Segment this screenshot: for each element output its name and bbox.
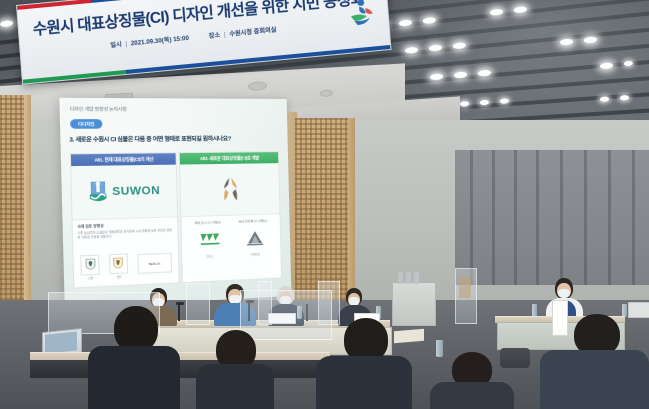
green-city-logo-icon	[198, 231, 221, 248]
standing-name-card	[552, 300, 568, 336]
projection-screen: 디자인 개발 방향성 논의사항 디디자인 3. 새로운 수원시 CI 심볼은 다…	[59, 98, 291, 309]
alt2-example-captions: 해외 도시 CI 사례(1) 국내 지자체 CI 사례(2)	[186, 217, 276, 225]
alternative-2-panel: Alt2. 새로운 대표상징물(CI)로 개발 해외 도시 CI 사례(1) 국…	[179, 151, 282, 283]
attendee-right-suit	[540, 350, 649, 409]
attendee-back-left	[196, 330, 274, 409]
attendee-left-suit	[88, 346, 180, 409]
alternative-2-notes: 해외 도시 CI 사례(1) 국내 지자체 CI 사례(2) 경기도	[181, 213, 281, 280]
water-bottle-staff	[532, 304, 537, 317]
banner-separator-2: |	[224, 31, 226, 38]
banner-date-label: 일시	[110, 41, 122, 49]
laptop-screen	[45, 331, 77, 353]
attendee-front-right-back	[430, 352, 514, 409]
attendee-front-left	[88, 306, 180, 409]
wood-lattice-panel-left	[0, 95, 26, 325]
suwon-city-symbol-icon	[343, 0, 379, 31]
berlin-wordmark-icon: BERLIN	[137, 253, 172, 274]
wood-frame-left	[24, 95, 31, 325]
acrylic-divider-panel-1	[186, 283, 210, 325]
alternative-1-panel: Alt1. 현재 대표상징물(CI)의 개선 SUWON 사례 검토 방향성 기…	[70, 152, 180, 288]
cabinet-bottle-2	[406, 272, 411, 284]
cabinet-bottle-1	[398, 272, 403, 284]
slide-section-badge: 디디자인	[70, 119, 102, 129]
berlin-wordmark-text: BERLIN	[149, 261, 161, 266]
alternative-1-logo-area: SUWON	[71, 165, 177, 220]
alt2-example-caption: 경기도	[199, 254, 222, 259]
microphone-head-1	[176, 302, 184, 305]
banner-place-label: 장소	[209, 32, 221, 40]
audience-desk-front	[30, 360, 330, 378]
alt1-example-caption: 개선	[110, 274, 129, 279]
slide-header: 디자인 개발 방향성 논의사항	[70, 106, 127, 112]
alt1-note-body: 기존 상징물의 조형성과 색채계열을 유지하며 시대 변화에 맞춘 현대적 정제…	[77, 228, 173, 240]
attendee-center-suit	[316, 356, 412, 409]
berlin-crest-new-icon	[109, 253, 128, 274]
attendee-back-suit	[196, 364, 274, 409]
alternative-2-logo-area	[180, 163, 279, 216]
banner-date-value: 2021.09.30(목) 15:00	[131, 35, 190, 47]
wood-frame-right-inner	[348, 118, 355, 310]
banner-place-value: 수원시청 중회의실	[229, 27, 277, 38]
alt1-example-logos: 기존 개선 BERLIN	[78, 252, 174, 281]
photo-scene: 디자인 개발 방향성 논의사항 디디자인 3. 새로운 수원시 CI 심볼은 다…	[0, 0, 649, 409]
slide-question: 3. 새로운 수원시 CI 심볼은 다음 중 어떤 형태로 표현되길 원하시나요…	[69, 134, 231, 143]
acrylic-poster	[459, 276, 471, 298]
suwon-emblem-icon	[89, 180, 108, 204]
attendee-right-back-suit	[430, 382, 514, 409]
alt1-example-caption-blank	[138, 273, 172, 278]
alternative-1-notes: 사례 검토 방향성 기존 상징물의 조형성과 색채계열을 유지하며 시대 변화에…	[73, 216, 179, 285]
alt1-example-caption: 기존	[81, 276, 100, 281]
cabinet-bottle-3	[414, 272, 419, 284]
alt2-caption-a: 해외 도시 CI 사례(1)	[194, 220, 221, 225]
suwon-wordmark: SUWON	[112, 185, 160, 199]
abstract-people-icon	[217, 175, 244, 204]
staff-face-mask	[558, 289, 570, 298]
gray-mountain-logo-icon	[244, 230, 265, 247]
banner-separator-1: |	[125, 41, 127, 48]
back-wall-right-dark	[455, 150, 649, 285]
berlin-crest-old-icon	[81, 255, 100, 276]
water-bottle-audience	[436, 340, 443, 357]
alt2-example-logos: 경기도 수원화성	[186, 229, 277, 259]
alt2-caption-b: 국내 지자체 CI 사례(2)	[238, 219, 267, 224]
alt2-example-caption: 수원화성	[245, 252, 265, 257]
